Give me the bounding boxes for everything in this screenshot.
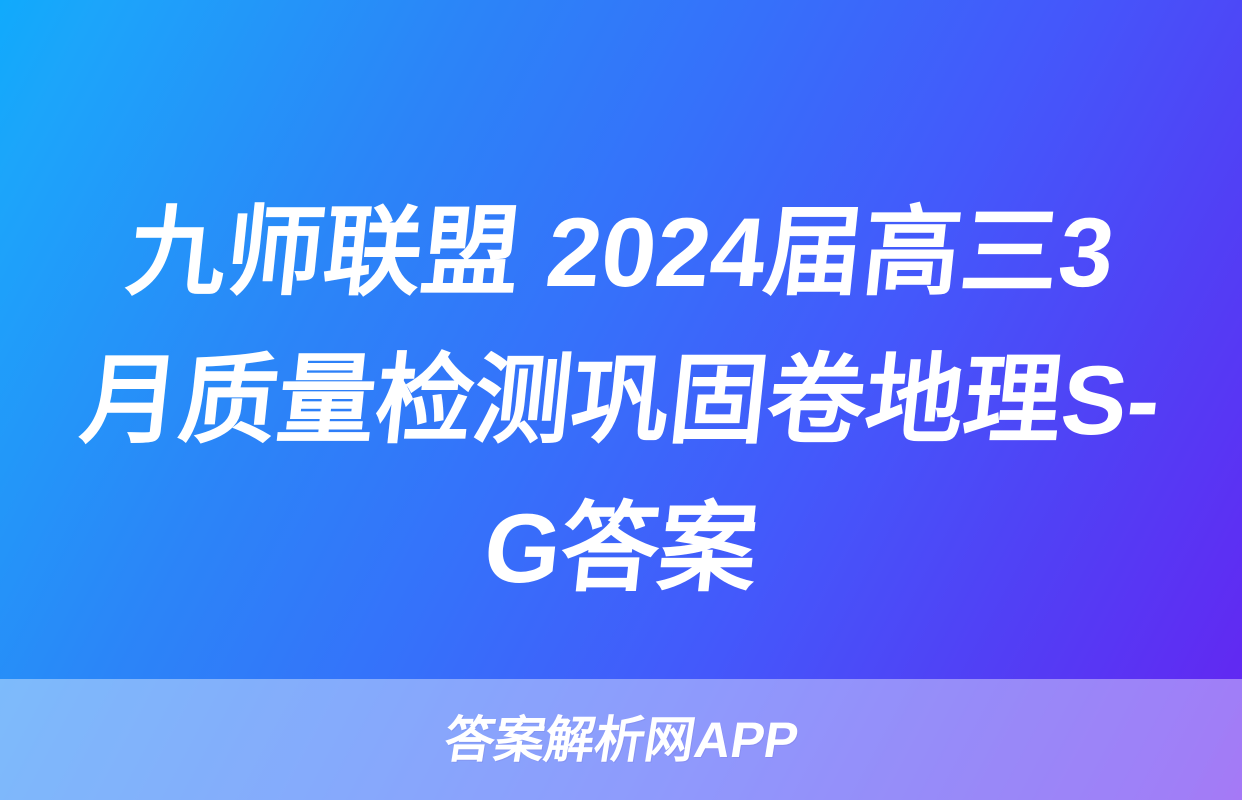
page-title: 九师联盟 2024届高三3 月质量检测巩固卷地理S- G答案 [0,178,1242,618]
title-line-1: 九师联盟 2024届高三3 [10,178,1232,326]
exam-answer-cover-card: 九师联盟 2024届高三3 月质量检测巩固卷地理S- G答案 答案解析网APP [0,0,1242,800]
app-brand-label: 答案解析网APP [441,715,802,765]
footer-brand-band: 答案解析网APP [0,679,1242,800]
title-line-2: 月质量检测巩固卷地理S- [10,326,1232,474]
title-line-3: G答案 [10,474,1232,622]
